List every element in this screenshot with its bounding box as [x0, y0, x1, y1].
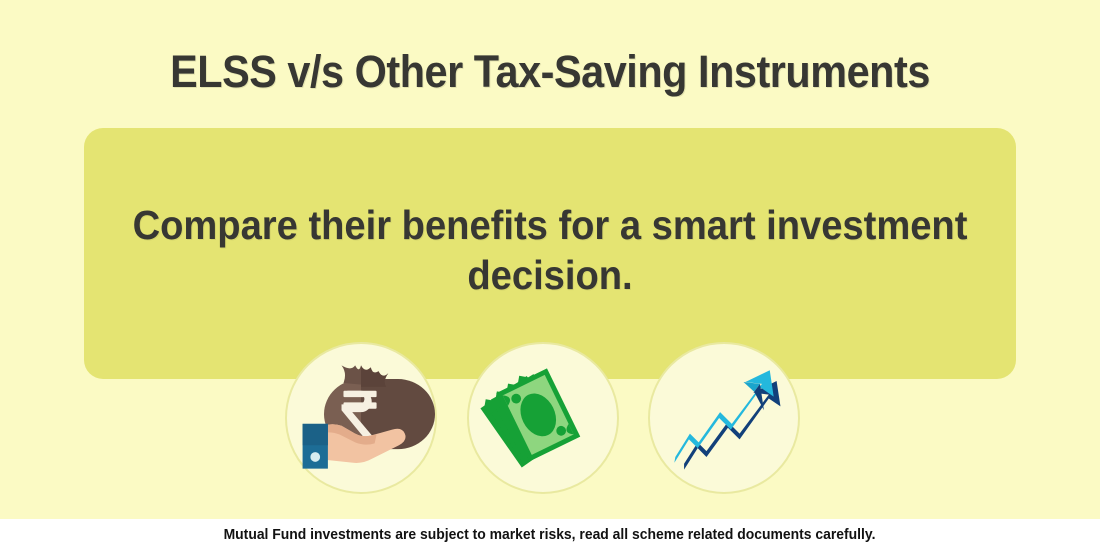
- growth-arrow-icon: [650, 344, 798, 492]
- footer-bar: Mutual Fund investments are subject to m…: [0, 519, 1100, 550]
- icon-circle-money-bag: [285, 342, 437, 494]
- icon-circle-growth-arrow: [648, 342, 800, 494]
- disclaimer-text: Mutual Fund investments are subject to m…: [224, 527, 876, 543]
- poster-canvas: ELSS v/s Other Tax-Saving Instruments Co…: [0, 0, 1100, 550]
- hand-holding-money-bag-icon: [287, 344, 435, 492]
- icon-circle-cash: [467, 342, 619, 494]
- icon-row: [285, 342, 805, 502]
- page-title: ELSS v/s Other Tax-Saving Instruments: [44, 48, 1056, 95]
- cash-stack-icon: [469, 344, 617, 492]
- card-subtitle: Compare their benefits for a smart inves…: [117, 200, 984, 300]
